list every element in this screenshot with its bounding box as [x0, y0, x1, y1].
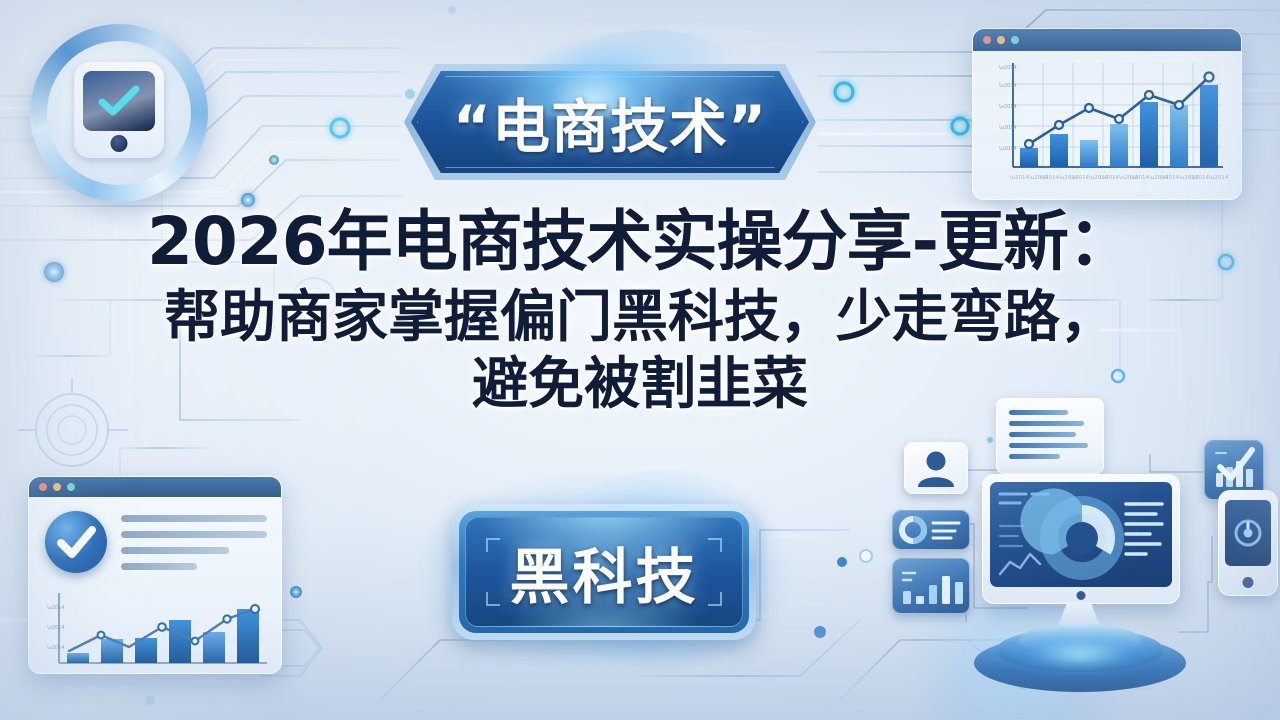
page-title: 2026年电商技术实操分享-更新： 帮助商家掌握偏门黑科技，少走弯路， 避免被割…: [0, 208, 1280, 414]
hex-banner: “电商技术”: [404, 64, 816, 180]
badge-label: 黑科技: [510, 529, 699, 616]
device-screen: [83, 71, 155, 131]
bar-stat-card: [892, 558, 970, 614]
donut-chart-icon: [893, 511, 969, 549]
doc-line: [1009, 454, 1060, 459]
check-icon: [45, 511, 107, 573]
device-check-icon: [30, 24, 208, 202]
device-home-button: [111, 135, 128, 152]
device-body: [74, 62, 164, 158]
chart-window-card: \u2014\u2014 \u2014\u2014 \u2014: [972, 28, 1242, 200]
monitor: [982, 474, 1180, 604]
user-card: [904, 442, 968, 494]
verify-window-body: \u2014\u2014\u2014: [29, 497, 281, 673]
close-dot-icon[interactable]: [39, 483, 47, 491]
minimize-dot-icon[interactable]: [997, 36, 1005, 44]
doc-line: [1009, 432, 1076, 437]
smartphone: [1218, 490, 1278, 596]
svg-text:\u2014: \u2014: [999, 104, 1017, 110]
text-line: [121, 531, 267, 538]
badge-corner-bl: [486, 592, 500, 606]
text-line: [121, 515, 267, 522]
text-line: [121, 547, 229, 554]
svg-text:\u2014: \u2014: [999, 65, 1017, 71]
doc-line: [1009, 443, 1088, 448]
badge-corner-br: [708, 592, 722, 606]
mini-bar-line-chart: \u2014\u2014\u2014: [37, 589, 273, 673]
svg-text:\u2014: \u2014: [999, 125, 1017, 131]
verify-window-card: \u2014\u2014\u2014: [28, 476, 282, 674]
svg-text:\u2014: \u2014: [999, 146, 1017, 152]
maximize-dot-icon[interactable]: [67, 483, 75, 491]
hex-banner-label: “电商技术”: [453, 80, 767, 164]
headline-line-2: 帮助商家掌握偏门黑科技，少走弯路，: [0, 289, 1280, 346]
svg-text:\u2014: \u2014: [47, 625, 65, 631]
doc-line: [1009, 421, 1084, 426]
text-placeholder-lines: [121, 515, 267, 579]
device-cluster: [878, 396, 1280, 720]
pedestal-glow: [1005, 632, 1155, 676]
svg-text:\u2014: \u2014: [47, 645, 65, 651]
monitor-camera-dot: [1077, 591, 1086, 600]
power-circle-icon: [1231, 516, 1265, 550]
text-line: [121, 563, 197, 570]
badge-corner-tl: [486, 538, 500, 552]
bar-line-chart: \u2014\u2014 \u2014\u2014 \u2014: [973, 51, 1241, 199]
badge-corner-tr: [708, 538, 722, 552]
bar-chart-icon: [893, 559, 969, 613]
phone-home-button: [1243, 577, 1254, 588]
headline-line-3: 避免被割韭菜: [0, 356, 1280, 413]
phone-screen: [1225, 500, 1271, 566]
svg-text:\u2014: \u2014: [999, 83, 1017, 89]
dashboard-donut-chart: [990, 482, 1172, 587]
hei-ke-ji-badge[interactable]: 黑科技: [452, 504, 756, 640]
banner-canvas: \u2014\u2014 \u2014\u2014 \u2014: [0, 0, 1280, 720]
svg-text:\u2014: \u2014: [47, 605, 65, 611]
glowing-pedestal: [974, 618, 1186, 692]
donut-stat-card: [892, 510, 970, 550]
check-icon: [96, 83, 142, 119]
minimize-dot-icon[interactable]: [53, 483, 61, 491]
badge-face: 黑科技: [465, 517, 743, 627]
user-icon: [905, 443, 967, 493]
verify-window-titlebar: [29, 477, 281, 497]
window-titlebar: [973, 29, 1241, 51]
check-badge-icon: [45, 511, 107, 573]
maximize-dot-icon[interactable]: [1011, 36, 1019, 44]
svg-text:\u2014\u2014: \u2014\u2014: [1190, 175, 1229, 181]
connector-node: [987, 437, 993, 443]
close-dot-icon[interactable]: [983, 36, 991, 44]
headline-line-1: 2026年电商技术实操分享-更新：: [0, 208, 1280, 275]
monitor-screen: [990, 482, 1172, 587]
